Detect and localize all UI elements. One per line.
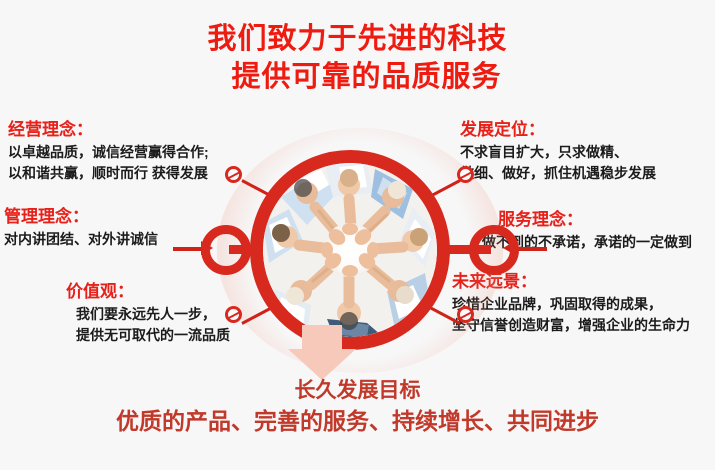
side-ring-left: [201, 225, 251, 275]
bottom-title: 长久发展目标: [0, 378, 715, 404]
side-ring-right: [469, 225, 519, 275]
node-bottom-left: [225, 306, 242, 323]
block-heading: 管理理念：: [4, 205, 158, 229]
central-ring: [250, 150, 450, 350]
block-line: 以和谐共赢，顺时而行 获得发展: [8, 163, 209, 184]
page-title: 我们致力于先进的科技 提供可靠的品质服务: [0, 20, 715, 96]
text-block-business-philosophy: 经营理念： 以卓越品质，诚信经营赢得合作; 以和谐共赢，顺时而行 获得发展: [8, 118, 209, 184]
down-arrow-shaft: [302, 325, 342, 351]
bottom-subtitle: 优质的产品、完善的服务、持续增长、共同进步: [0, 406, 715, 436]
teamwork-illustration: [263, 163, 437, 337]
teamwork-photo: [263, 163, 437, 337]
headline-line-2: 提供可靠的品质服务: [0, 58, 715, 96]
node-slash: [227, 311, 241, 320]
node-slash: [459, 311, 473, 320]
poster-canvas: 我们致力于先进的科技 提供可靠的品质服务 经营理念： 以卓越品质，诚信经营赢得合…: [0, 0, 715, 470]
node-slash: [459, 171, 473, 180]
node-bottom-right: [457, 306, 474, 323]
text-block-management-philosophy: 管理理念： 对内讲团结、对外讲诚信: [4, 205, 158, 250]
headline-line-1: 我们致力于先进的科技: [207, 23, 507, 55]
block-line: 对内讲团结、对外讲诚信: [4, 229, 158, 250]
block-heading: 经营理念：: [8, 118, 209, 142]
teamwork-diagram: [185, 128, 535, 373]
down-arrow-head: [288, 349, 356, 380]
down-arrow: [288, 325, 356, 380]
block-line: 以卓越品质，诚信经营赢得合作;: [8, 142, 209, 163]
node-top-left: [225, 166, 242, 183]
inbound-arrow-right: [515, 247, 547, 251]
node-top-right: [457, 166, 474, 183]
node-slash: [227, 171, 241, 180]
